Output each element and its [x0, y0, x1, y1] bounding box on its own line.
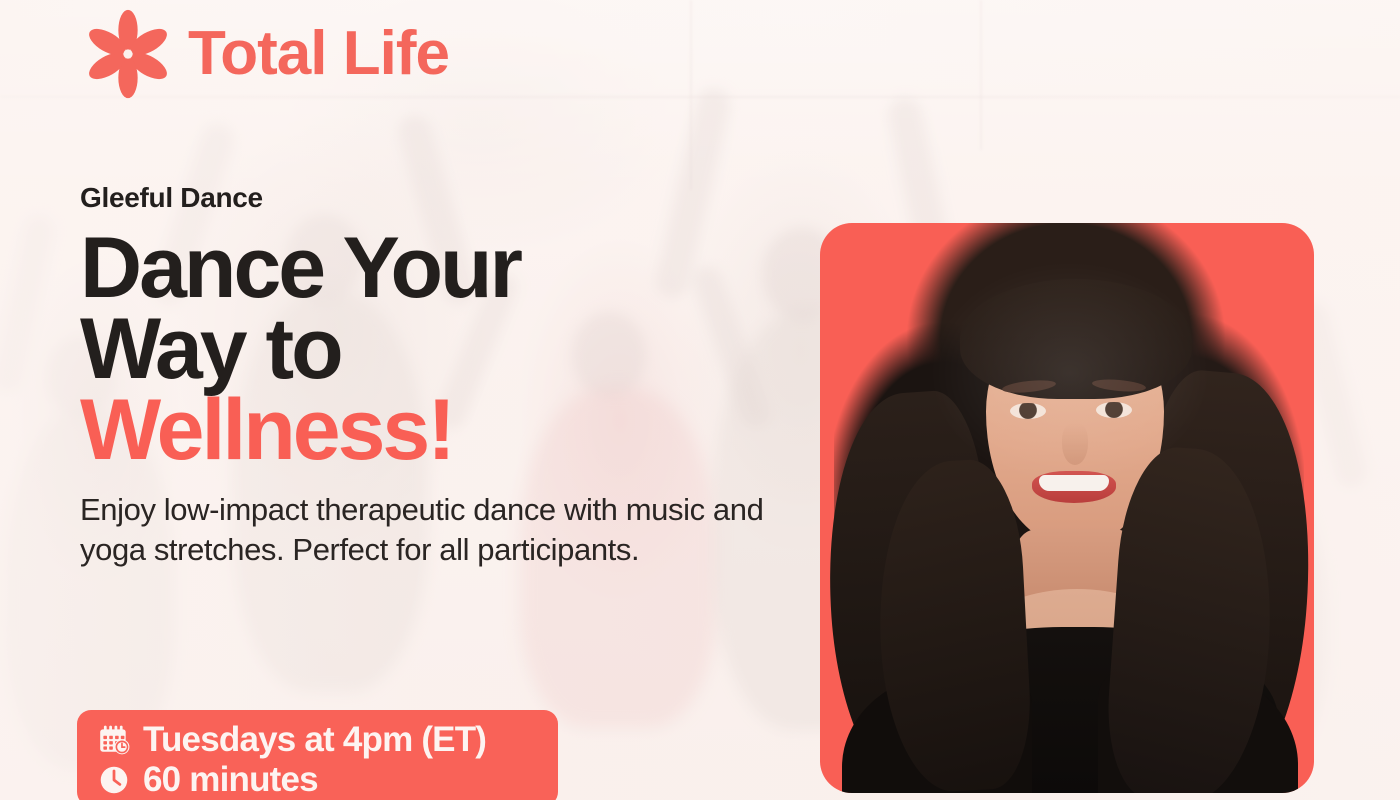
- eye-left: [1010, 403, 1046, 419]
- hair-fringe: [960, 279, 1192, 399]
- schedule-time-row: Tuesdays at 4pm (ET): [97, 721, 538, 759]
- headline-line-1: Dance Your: [80, 228, 780, 309]
- six-petal-flower-icon: [82, 8, 174, 100]
- schedule-time-label: Tuesdays at 4pm (ET): [143, 721, 486, 759]
- headline-line-2: Way to: [80, 309, 780, 390]
- instructor-photo: [820, 223, 1314, 793]
- brand-name: Total Life: [188, 23, 449, 85]
- eye-right: [1096, 402, 1132, 418]
- schedule-duration-label: 60 minutes: [143, 761, 318, 799]
- page-title: Dance Your Way to Wellness!: [80, 228, 780, 470]
- hero-description: Enjoy low-impact therapeutic dance with …: [80, 490, 780, 569]
- brand-logo: Total Life: [82, 8, 449, 100]
- instructor-portrait-card: [820, 223, 1314, 793]
- hero-copy: Gleeful Dance Dance Your Way to Wellness…: [80, 182, 780, 570]
- schedule-duration-row: 60 minutes: [97, 761, 538, 799]
- teeth: [1039, 475, 1109, 491]
- headline-accent-line: Wellness!: [80, 390, 780, 471]
- schedule-badge: Tuesdays at 4pm (ET) 60 minutes: [77, 710, 558, 800]
- clock-icon: [97, 763, 131, 797]
- nose: [1062, 423, 1088, 465]
- calendar-clock-icon: [97, 723, 131, 757]
- program-eyebrow: Gleeful Dance: [80, 182, 780, 214]
